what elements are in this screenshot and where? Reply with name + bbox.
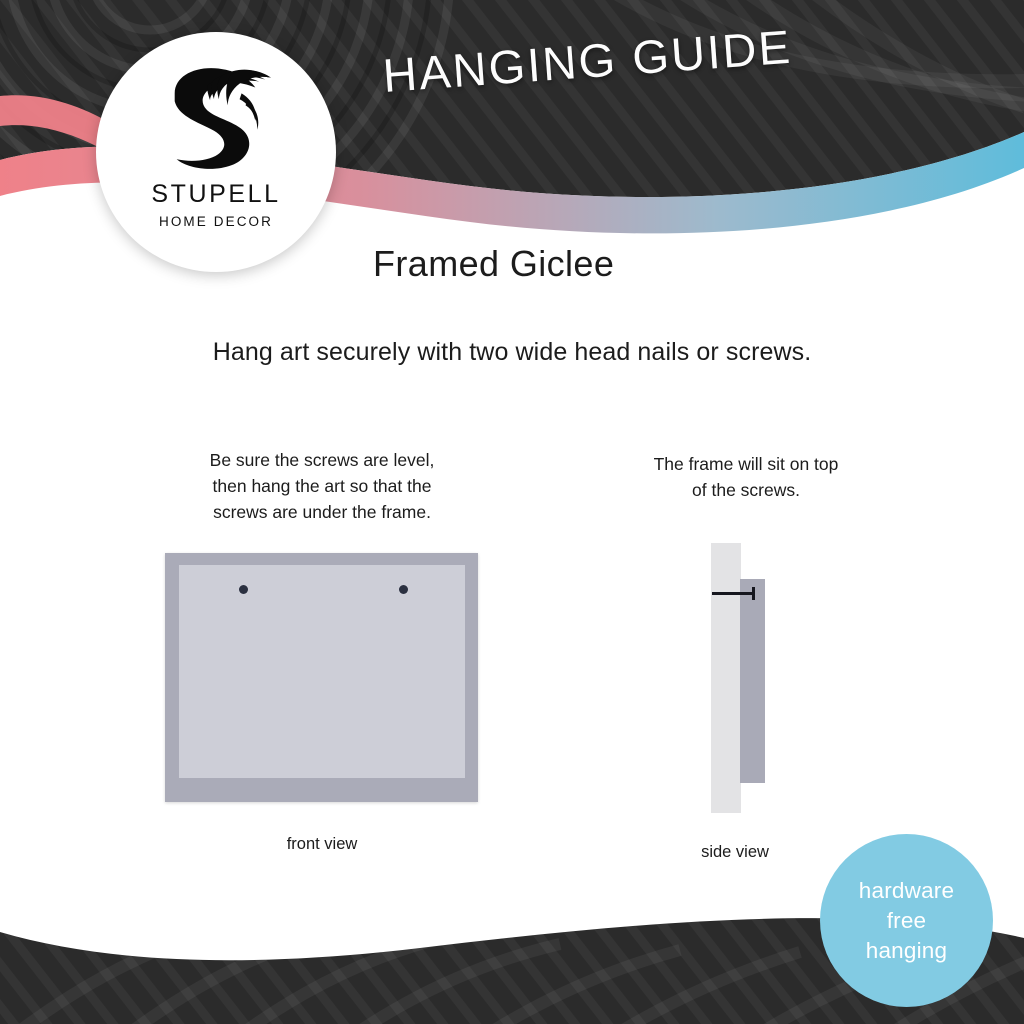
brand-tagline: HOME DECOR	[159, 215, 273, 229]
brand-name: STUPELL	[151, 182, 280, 207]
front-view-label: front view	[182, 835, 462, 854]
badge-line-3: hanging	[866, 936, 947, 966]
front-view-caption: Be sure the screws are level, then hang …	[152, 447, 492, 525]
brand-logo-badge: STUPELL HOME DECOR	[96, 32, 336, 272]
hanging-guide-page: STUPELL HOME DECOR HANGING GUIDE Framed …	[0, 0, 1024, 1024]
screw-dot-right-icon	[399, 585, 408, 594]
page-title: HANGING GUIDE	[381, 19, 794, 103]
screw-shaft-icon	[712, 592, 754, 595]
front-caption-line-3: screws are under the frame.	[152, 499, 492, 525]
hardware-free-hanging-badge: hardware free hanging	[820, 834, 993, 1007]
accent-wave-left-sliver	[0, 95, 112, 150]
side-caption-line-2: of the screws.	[612, 477, 880, 503]
frame-cross-section	[740, 579, 765, 783]
side-view-caption: The frame will sit on top of the screws.	[612, 451, 880, 503]
screw-head-icon	[752, 587, 755, 600]
screw-dot-left-icon	[239, 585, 248, 594]
side-caption-line-1: The frame will sit on top	[612, 451, 880, 477]
product-type-heading: Framed Giclee	[373, 243, 614, 285]
frame-artwork-area	[179, 565, 465, 778]
stupell-swirl-s-logo-icon	[157, 58, 275, 176]
badge-line-2: free	[887, 906, 927, 936]
side-view-label: side view	[655, 843, 815, 862]
front-view-diagram	[165, 553, 478, 802]
badge-line-1: hardware	[859, 876, 954, 906]
front-caption-line-1: Be sure the screws are level,	[152, 447, 492, 473]
side-view-diagram	[706, 543, 786, 815]
wall-cross-section	[711, 543, 741, 813]
front-caption-line-2: then hang the art so that the	[152, 473, 492, 499]
main-instruction-text: Hang art securely with two wide head nai…	[0, 338, 1024, 367]
